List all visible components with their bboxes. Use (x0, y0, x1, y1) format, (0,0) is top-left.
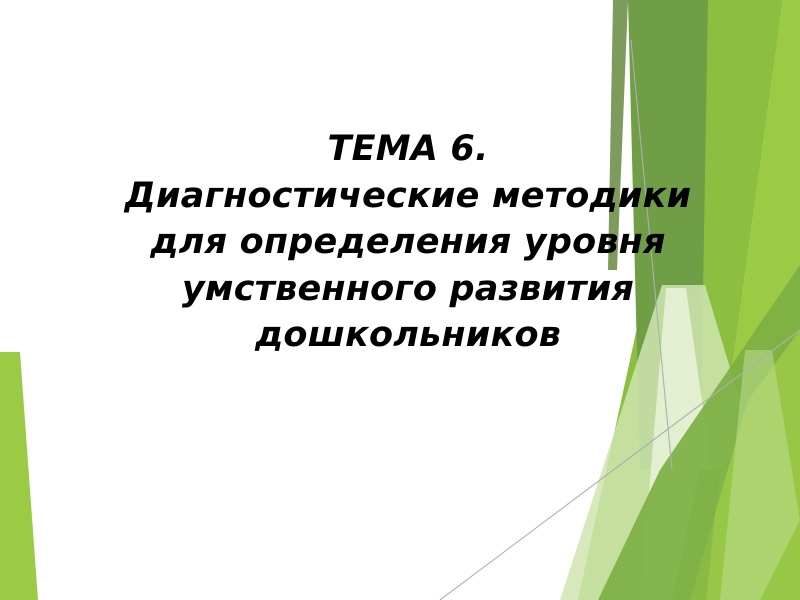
bright-green-overlay-lower (690, 330, 800, 600)
title-placeholder: ТЕМА 6. Диагностические методики для опр… (112, 126, 704, 359)
right-bright-green-field (700, 0, 800, 600)
light-green-wedge-right (720, 350, 800, 600)
diagonal-line-shallow (440, 330, 800, 600)
left-green-wedge (0, 352, 38, 600)
green-accent-narrow (672, 470, 720, 600)
slide-canvas: ТЕМА 6. Диагностические методики для опр… (0, 0, 800, 600)
page-title: ТЕМА 6. Диагностические методики для опр… (112, 126, 704, 359)
